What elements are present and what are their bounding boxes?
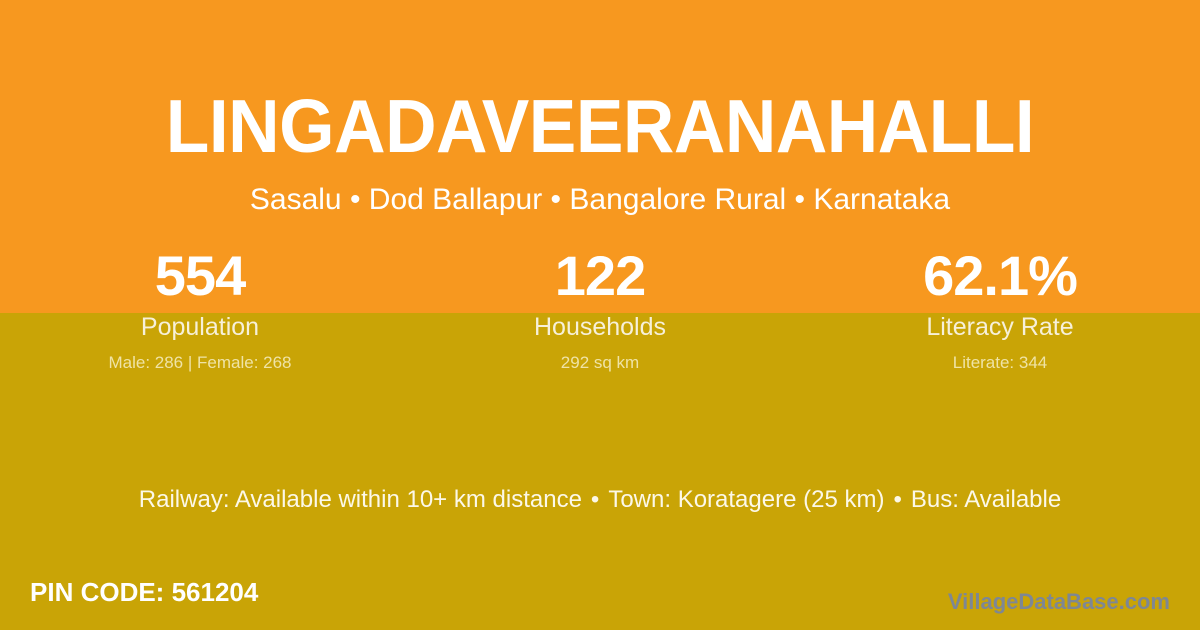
amenities-line: Railway: Available within 10+ km distanc… [0,484,1200,516]
stat-population-label: Population [0,311,400,343]
stat-population-sub: Male: 286 | Female: 268 [0,351,400,375]
page-title: LINGADAVEERANAHALLI [30,79,1170,173]
stat-literacy-rate-value: 62.1% [800,243,1200,309]
stat-literacy-rate-sub: Literate: 344 [800,351,1200,375]
stat-population-value: 554 [0,243,400,309]
stat-households-label: Households [400,311,800,343]
stat-households-value: 122 [400,243,800,309]
brand-watermark: VillageDataBase.com [948,588,1170,616]
pin-code: PIN CODE: 561204 [30,575,258,609]
stat-literacy-rate-label: Literacy Rate [800,311,1200,343]
stat-population: 554 Population Male: 286 | Female: 268 [0,243,400,375]
amenity-bus: Bus: Available [911,486,1061,513]
breadcrumb: Sasalu • Dod Ballapur • Bangalore Rural … [0,180,1200,220]
amenities-separator: • [884,484,910,516]
amenities-separator: • [582,484,608,516]
village-info-card: LINGADAVEERANAHALLI Sasalu • Dod Ballapu… [0,0,1200,630]
stats-row: 554 Population Male: 286 | Female: 268 1… [0,243,1200,375]
amenity-town: Town: Koratagere (25 km) [608,486,884,513]
stat-households-sub: 292 sq km [400,351,800,375]
stat-households: 122 Households 292 sq km [400,243,800,375]
stat-literacy-rate: 62.1% Literacy Rate Literate: 344 [800,243,1200,375]
amenity-railway: Railway: Available within 10+ km distanc… [139,486,582,513]
